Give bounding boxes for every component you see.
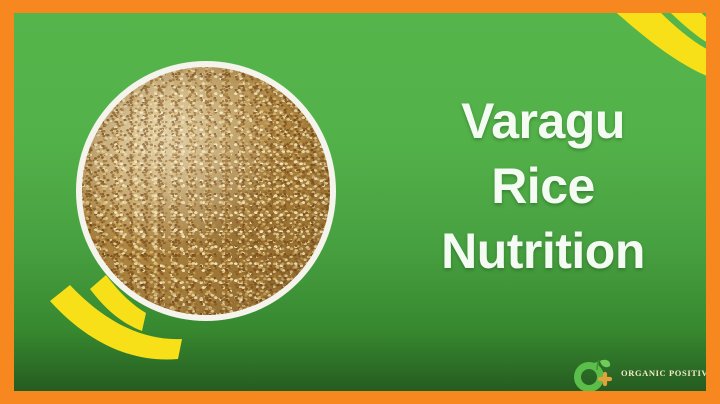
swoosh-top-right-inner xyxy=(659,13,706,49)
page-title: Varagu Rice Nutrition xyxy=(394,89,692,284)
brand-name: ORGANIC POSITIVE xyxy=(621,368,706,378)
brand-logo[interactable]: ORGANIC POSITIVE xyxy=(573,351,701,391)
swoosh-top-right-outer xyxy=(610,13,706,79)
title-line-3: Nutrition xyxy=(394,219,692,284)
banner: Varagu Rice Nutrition ORGANIC POSITIVE xyxy=(0,0,720,404)
grain-vignette xyxy=(82,67,330,315)
leaf-ring-icon xyxy=(573,353,617,391)
banner-stage: Varagu Rice Nutrition ORGANIC POSITIVE xyxy=(14,13,706,391)
title-line-1: Varagu xyxy=(394,89,692,154)
organic-positive-icon xyxy=(573,353,617,391)
top-right-swoosh-group xyxy=(610,13,706,79)
title-line-2: Rice xyxy=(394,154,692,219)
grain-circle-image xyxy=(76,61,336,321)
grain-photo xyxy=(82,67,330,315)
